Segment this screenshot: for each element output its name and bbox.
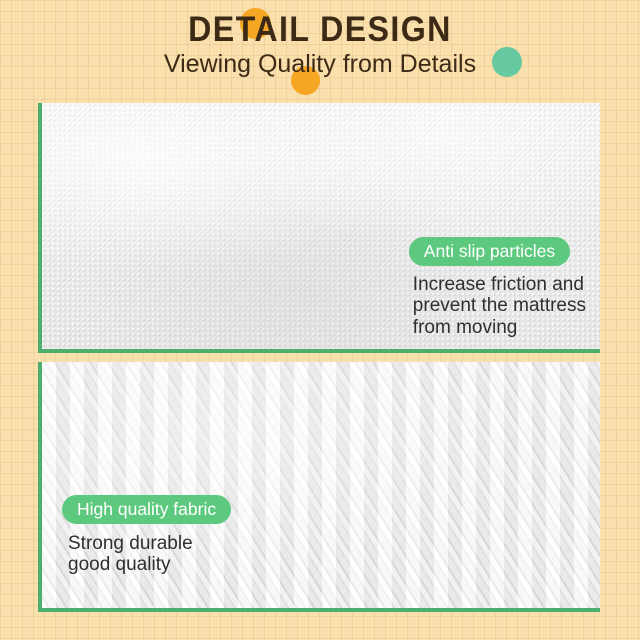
- description-high-quality-fabric: Strong durable good quality: [68, 533, 231, 576]
- page-subtitle: Viewing Quality from Details: [0, 50, 640, 79]
- detail-panel-anti-slip: Anti slip particles Increase friction an…: [38, 103, 600, 353]
- badge-anti-slip-particles: Anti slip particles: [409, 237, 570, 266]
- page-header: DETAIL DESIGN Viewing Quality from Detai…: [0, 0, 640, 100]
- detail-panel-high-quality-fabric: High quality fabric Strong durable good …: [38, 362, 600, 612]
- product-detail-page: DETAIL DESIGN Viewing Quality from Detai…: [0, 0, 640, 640]
- description-anti-slip: Increase friction and prevent the mattre…: [413, 274, 586, 338]
- callout-high-quality-fabric: High quality fabric Strong durable good …: [62, 495, 231, 576]
- callout-anti-slip: Anti slip particles Increase friction an…: [409, 237, 586, 338]
- page-title: DETAIL DESIGN: [26, 10, 615, 50]
- badge-high-quality-fabric: High quality fabric: [62, 495, 231, 524]
